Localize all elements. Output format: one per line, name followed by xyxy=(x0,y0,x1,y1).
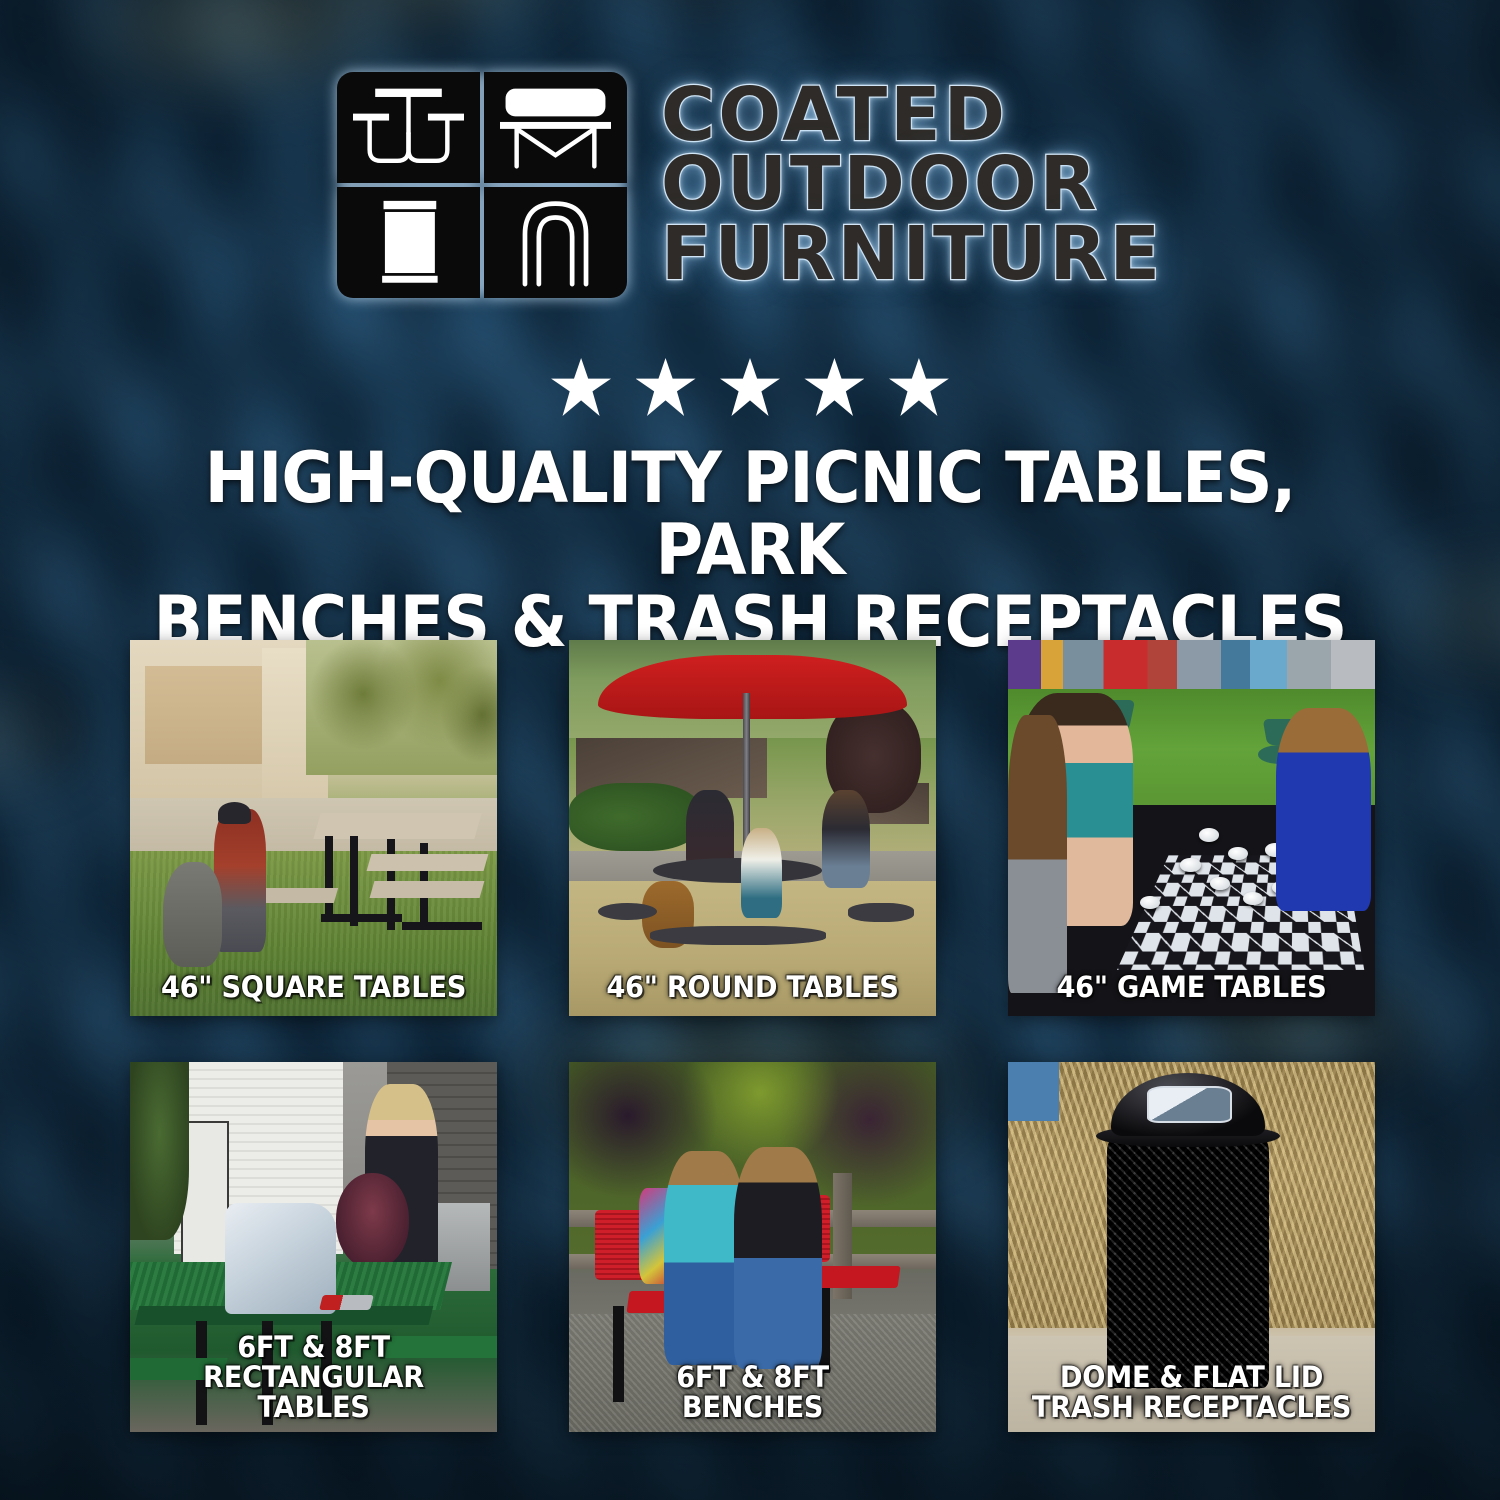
page-title: HIGH-QUALITY PICNIC TABLES, PARK BENCHES… xyxy=(108,442,1391,658)
round-tables-photo xyxy=(569,640,936,1016)
product-caption: 46" GAME TABLES xyxy=(1025,972,1359,1002)
product-caption: 6FT & 8FT BENCHES xyxy=(586,1362,920,1422)
star-icon xyxy=(551,358,611,416)
product-tile-round-tables[interactable]: 46" ROUND TABLES xyxy=(569,640,936,1016)
product-caption: 46" SQUARE TABLES xyxy=(147,972,481,1002)
picnic-table-icon xyxy=(337,72,480,183)
brand-line-2: OUTDOOR xyxy=(661,150,1163,220)
caption-line-1: 46" ROUND TABLES xyxy=(606,970,898,1004)
product-tile-square-tables[interactable]: 46" SQUARE TABLES xyxy=(130,640,497,1016)
caption-line-1: 6FT & 8FT xyxy=(237,1330,390,1364)
brand-logo: COATED OUTDOOR FURNITURE xyxy=(0,72,1500,298)
product-tile-benches[interactable]: 6FT & 8FT BENCHES xyxy=(569,1062,936,1432)
caption-line-1: 46" SQUARE TABLES xyxy=(161,970,466,1004)
star-icon xyxy=(636,358,696,416)
star-rating xyxy=(0,358,1500,421)
square-tables-photo xyxy=(130,640,497,1016)
brand-wordmark: COATED OUTDOOR FURNITURE xyxy=(661,81,1163,290)
logo-icon-grid xyxy=(337,72,627,298)
brand-line-3: FURNITURE xyxy=(661,220,1163,290)
product-caption: 46" ROUND TABLES xyxy=(586,972,920,1002)
product-tile-rectangular-tables[interactable]: 6FT & 8FT RECTANGULAR TABLES xyxy=(130,1062,497,1432)
product-grid: 46" SQUARE TABLES 46" xyxy=(130,640,1375,1432)
game-tables-photo xyxy=(1008,640,1375,1016)
brand-line-1: COATED xyxy=(661,81,1163,151)
promo-banner: COATED OUTDOOR FURNITURE HIGH-QUALITY PI… xyxy=(0,0,1500,1500)
star-icon xyxy=(804,358,864,416)
caption-line-1: 46" GAME TABLES xyxy=(1056,970,1326,1004)
bench-icon xyxy=(484,72,627,183)
product-tile-trash-receptacles[interactable]: DOME & FLAT LID TRASH RECEPTACLES xyxy=(1008,1062,1375,1432)
star-icon xyxy=(720,358,780,416)
product-tile-game-tables[interactable]: 46" GAME TABLES xyxy=(1008,640,1375,1016)
trash-receptacle-icon xyxy=(337,187,480,298)
product-caption: DOME & FLAT LID TRASH RECEPTACLES xyxy=(1025,1362,1359,1422)
bike-rack-icon xyxy=(484,187,627,298)
caption-line-2: TRASH RECEPTACLES xyxy=(1025,1392,1359,1422)
star-icon xyxy=(889,358,949,416)
caption-line-1: 6FT & 8FT xyxy=(676,1360,829,1394)
product-caption: 6FT & 8FT RECTANGULAR TABLES xyxy=(147,1332,481,1422)
caption-line-2: BENCHES xyxy=(586,1392,920,1422)
caption-line-1: DOME & FLAT LID xyxy=(1060,1360,1323,1394)
caption-line-2: RECTANGULAR TABLES xyxy=(147,1362,481,1422)
headline-line-1: HIGH-QUALITY PICNIC TABLES, PARK xyxy=(205,437,1296,591)
